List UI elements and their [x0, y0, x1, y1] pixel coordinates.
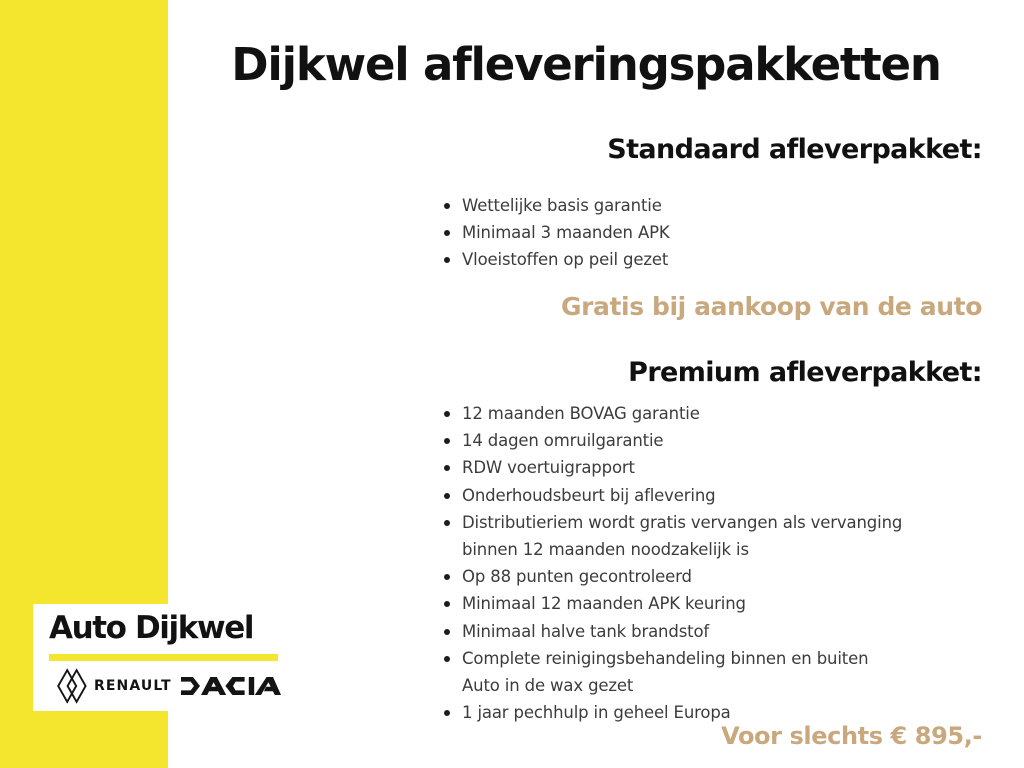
- dealer-wordmark: Auto Dijkwel: [49, 610, 253, 646]
- list-item-label: Minimaal 12 maanden APK keuring: [462, 594, 746, 613]
- renault-diamond-icon: [55, 668, 89, 709]
- list-item-label: Wettelijke basis garantie: [462, 196, 662, 215]
- list-item: Minimaal 3 maanden APK: [440, 219, 980, 246]
- list-item: Distributieriem wordt gratis vervangen a…: [440, 509, 980, 563]
- list-item-label: Vloeistoffen op peil gezet: [462, 250, 668, 269]
- list-item-label: 1 jaar pechhulp in geheel Europa: [462, 703, 731, 722]
- poster-content: Dijkwel afleveringspakketten Standaard a…: [190, 0, 990, 768]
- list-item: Op 88 punten gecontroleerd: [440, 563, 980, 590]
- logo-yellow-rule: [49, 654, 278, 661]
- list-item-continuation: Auto in de wax gezet: [462, 672, 980, 699]
- list-item: Minimaal halve tank brandstof: [440, 618, 980, 645]
- list-item: Complete reinigingsbehandeling binnen en…: [440, 645, 980, 699]
- list-item-continuation: binnen 12 maanden noodzakelijk is: [462, 536, 980, 563]
- page-title: Dijkwel afleveringspakketten: [190, 42, 982, 87]
- brand-row: RENAULT: [49, 668, 278, 704]
- list-item-label: Distributieriem wordt gratis vervangen a…: [462, 513, 902, 532]
- dacia-logo-icon: [181, 677, 281, 700]
- premium-section-heading: Premium afleverpakket:: [202, 358, 982, 388]
- list-item-label: Minimaal 3 maanden APK: [462, 223, 670, 242]
- list-item: 12 maanden BOVAG garantie: [440, 400, 980, 427]
- list-item-label: RDW voertuigrapport: [462, 458, 635, 477]
- list-item-label: Minimaal halve tank brandstof: [462, 622, 709, 641]
- list-item-label: Op 88 punten gecontroleerd: [462, 567, 692, 586]
- list-item: Vloeistoffen op peil gezet: [440, 246, 980, 273]
- list-item: RDW voertuigrapport: [440, 454, 980, 481]
- list-item: 14 dagen omruilgarantie: [440, 427, 980, 454]
- list-item-label: Complete reinigingsbehandeling binnen en…: [462, 649, 868, 668]
- standaard-tagline: Gratis bij aankoop van de auto: [202, 292, 982, 321]
- renault-wordmark: RENAULT: [94, 678, 172, 694]
- list-item-label: 14 dagen omruilgarantie: [462, 431, 663, 450]
- list-item: Wettelijke basis garantie: [440, 192, 980, 219]
- standaard-feature-list: Wettelijke basis garantie Minimaal 3 maa…: [440, 192, 980, 274]
- standaard-section-heading: Standaard afleverpakket:: [202, 135, 982, 165]
- premium-feature-list: 12 maanden BOVAG garantie 14 dagen omrui…: [440, 400, 980, 726]
- list-item: Minimaal 12 maanden APK keuring: [440, 590, 980, 617]
- list-item-label: Onderhoudsbeurt bij aflevering: [462, 486, 715, 505]
- dealer-logo-block: Auto Dijkwel RENAULT: [33, 604, 292, 711]
- list-item: Onderhoudsbeurt bij aflevering: [440, 482, 980, 509]
- premium-price-line: Voor slechts € 895,-: [202, 722, 982, 750]
- poster-root: Dijkwel afleveringspakketten Standaard a…: [0, 0, 1024, 768]
- list-item-label: 12 maanden BOVAG garantie: [462, 404, 700, 423]
